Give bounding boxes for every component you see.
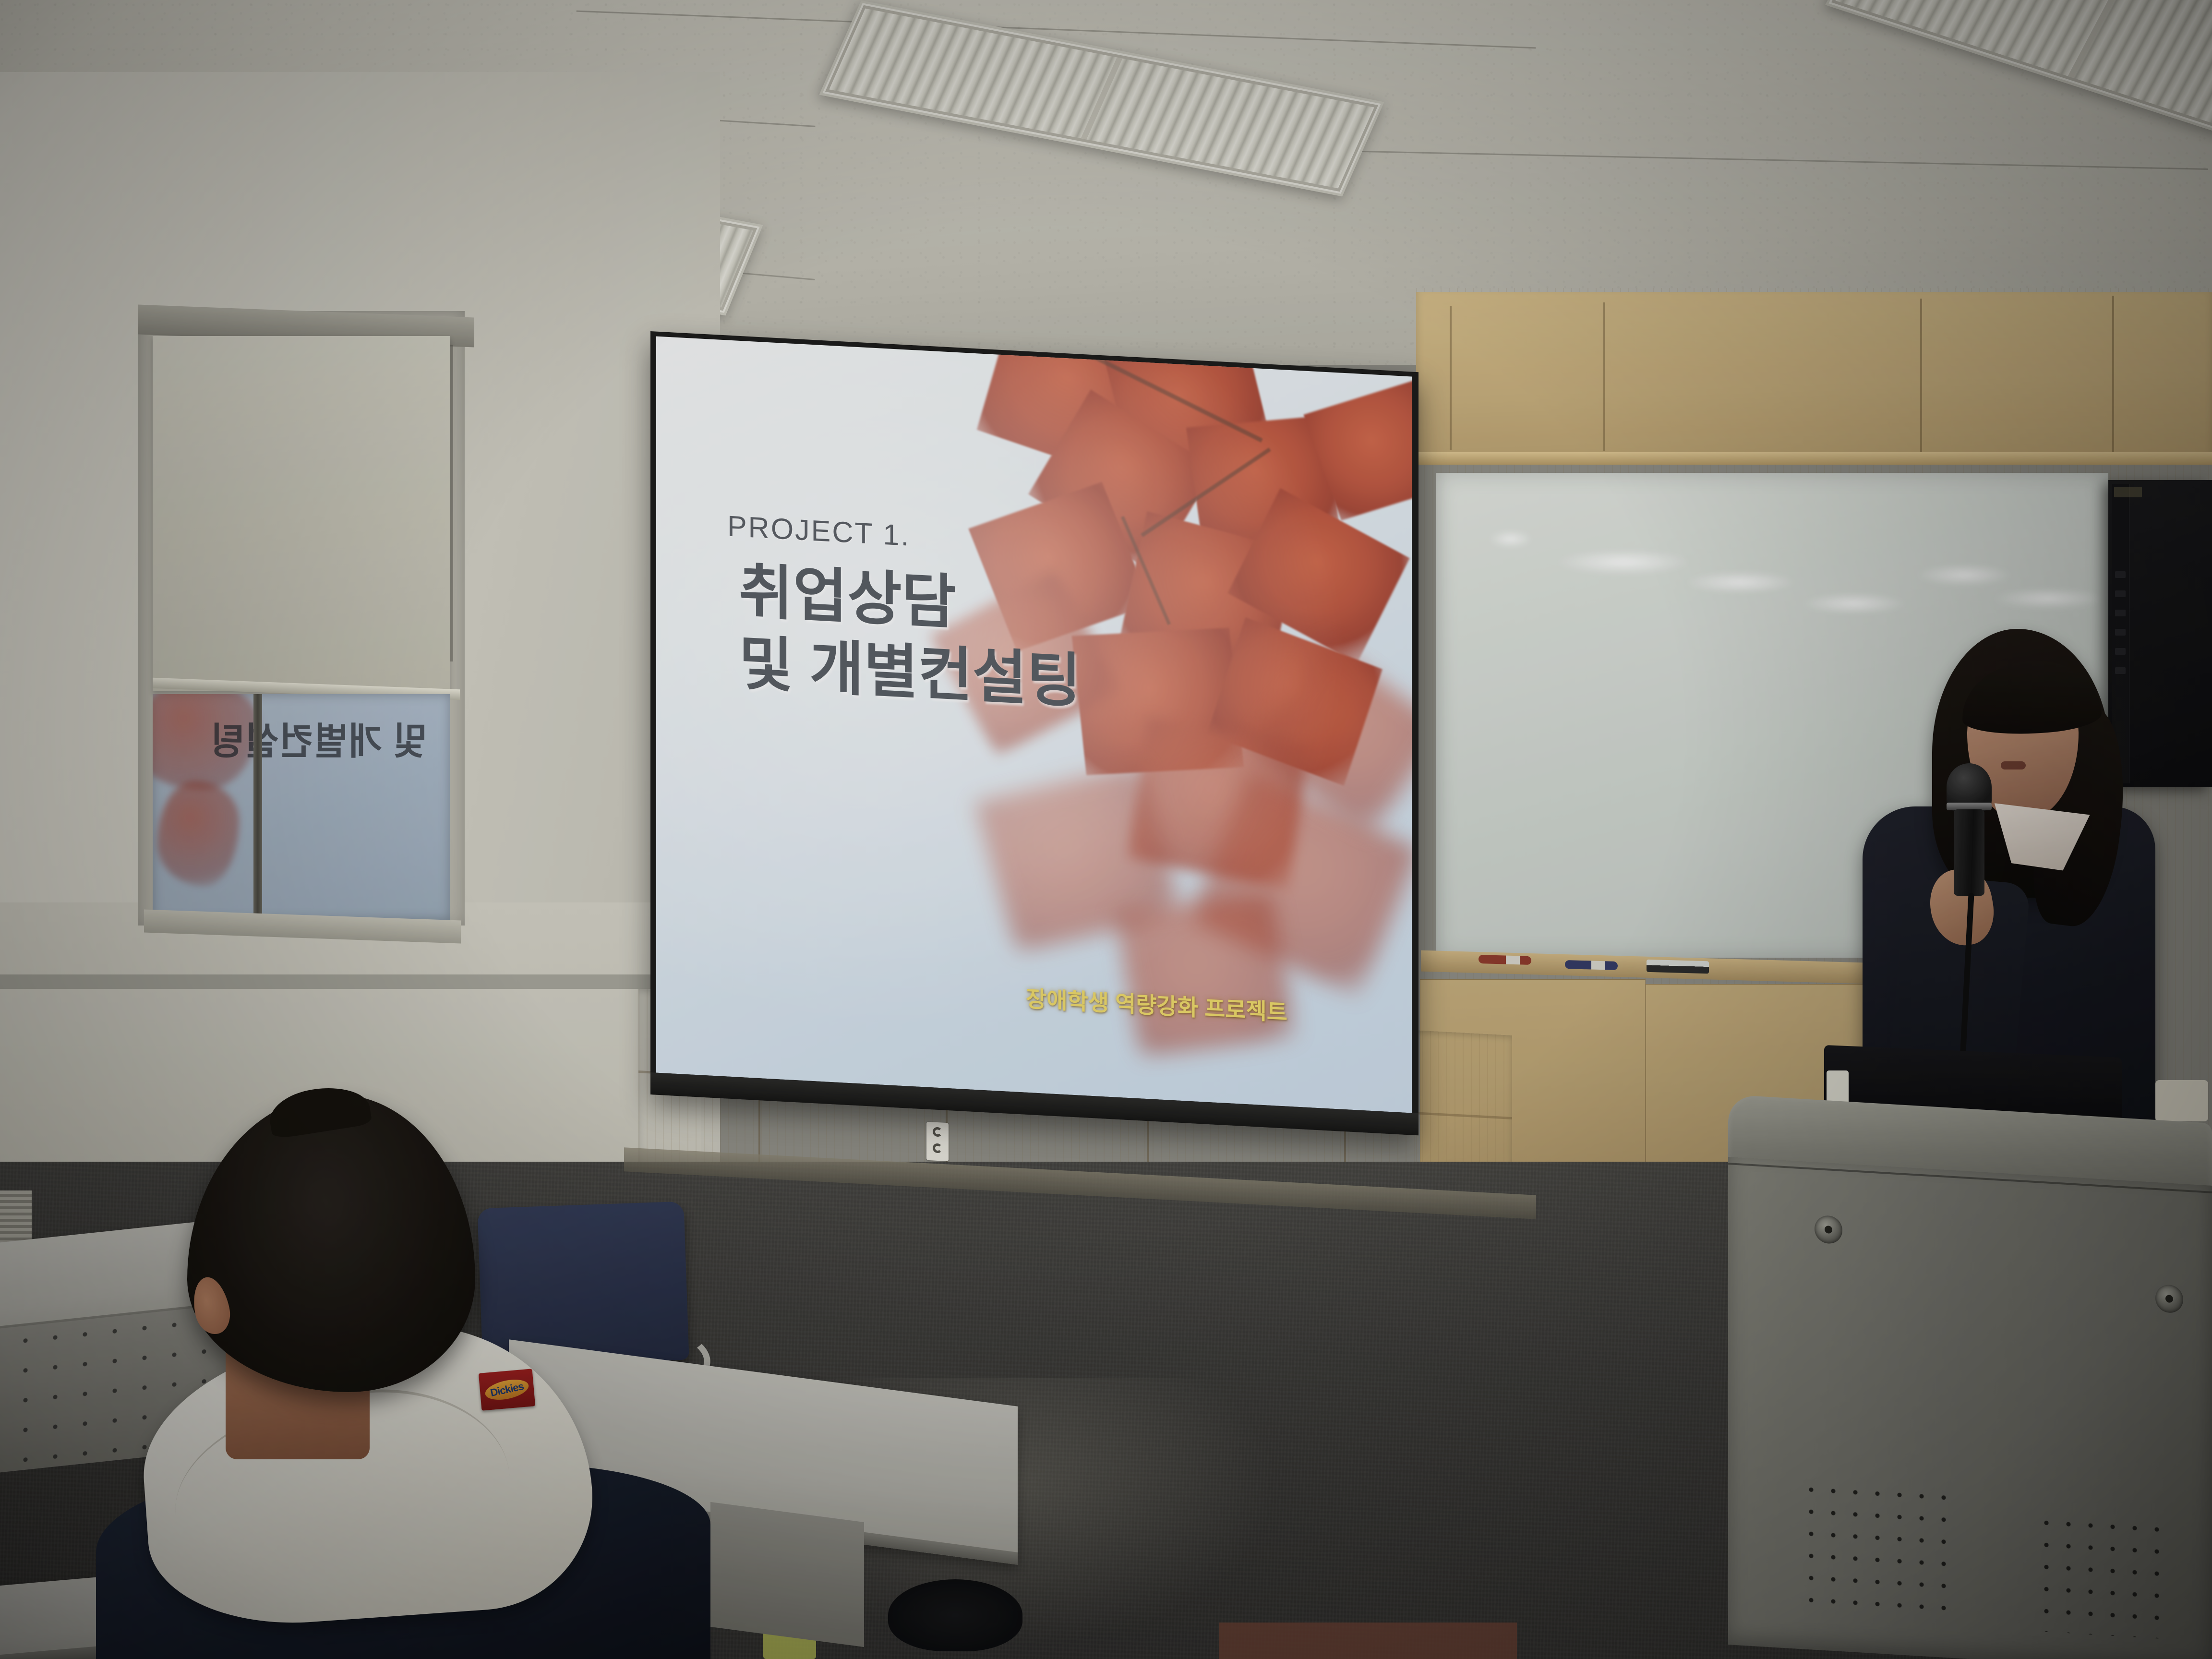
blue-marker[interactable] (1565, 960, 1618, 970)
reflected-leaf (157, 781, 239, 886)
projection-screen[interactable]: PROJECT 1. 취업상담 및 개별컨설팅 장애학생 역량강화 프로젝트 (650, 331, 1419, 1135)
valance-seam (1450, 306, 1452, 450)
projected-slide: PROJECT 1. 취업상담 및 개별컨설팅 장애학생 역량강화 프로젝트 (656, 337, 1412, 1113)
floor-mat (1219, 1623, 1517, 1659)
lectern-lock[interactable] (2155, 1284, 2183, 1313)
maple-leaf (1115, 894, 1296, 1057)
valance-seam (2112, 296, 2114, 452)
tv-menu-button[interactable] (2115, 590, 2126, 597)
dickies-oval: Dickies (483, 1376, 530, 1403)
power-outlet[interactable] (926, 1122, 949, 1161)
valance-seam (1603, 302, 1605, 451)
valance-lip (1416, 452, 2212, 465)
dickies-label: Dickies (489, 1380, 525, 1399)
window-mullion (253, 694, 262, 920)
lectern-vent (2035, 1511, 2170, 1639)
dickies-brand-patch: Dickies (479, 1369, 535, 1410)
slide-kicker: PROJECT 1. (727, 509, 910, 553)
roller-blind[interactable] (153, 336, 450, 691)
cable-connector (2155, 1080, 2208, 1121)
whiteboard-light-reflection (1556, 550, 1691, 575)
red-marker[interactable] (1479, 955, 1531, 965)
tv-input-button[interactable] (2115, 667, 2126, 674)
tv-power-button[interactable] (2115, 571, 2126, 578)
window-reflected-text: 및 개별컨설팅 (210, 711, 427, 765)
wall-shadow-band (0, 974, 686, 989)
tv-channel-button[interactable] (2115, 648, 2126, 655)
whiteboard-light-reflection (1801, 593, 1907, 614)
whiteboard-light-reflection (1993, 588, 2104, 609)
window-glass: 및 개별컨설팅 (153, 694, 450, 920)
microphone-body[interactable] (1954, 809, 1984, 896)
lectern-vent (1800, 1478, 1959, 1622)
classroom-photo: 및 개별컨설팅 (0, 0, 2212, 1659)
dark-object-on-floor (888, 1579, 1022, 1651)
tv-volume-up-button[interactable] (2115, 610, 2126, 616)
whiteboard-light-reflection (1916, 564, 2012, 586)
wall-mounted-tv[interactable] (2108, 480, 2212, 787)
valance-seam (1920, 299, 1922, 452)
tv-logo (2114, 487, 2142, 497)
tv-volume-down-button[interactable] (2115, 629, 2126, 636)
presenter-mouth (2001, 761, 2026, 769)
whiteboard-light-reflection (1489, 530, 1532, 548)
lectern-lock[interactable] (1815, 1215, 1842, 1244)
roller-blind-cord[interactable] (450, 345, 453, 661)
whiteboard-light-reflection (1686, 571, 1796, 593)
wood-valance (1416, 292, 2212, 465)
lectern-body[interactable] (1728, 1157, 2212, 1659)
desk-modesty-panel (710, 1502, 864, 1647)
whiteboard-eraser[interactable] (1647, 960, 1709, 974)
slide-title-line-1: 취업상담 (739, 557, 956, 638)
